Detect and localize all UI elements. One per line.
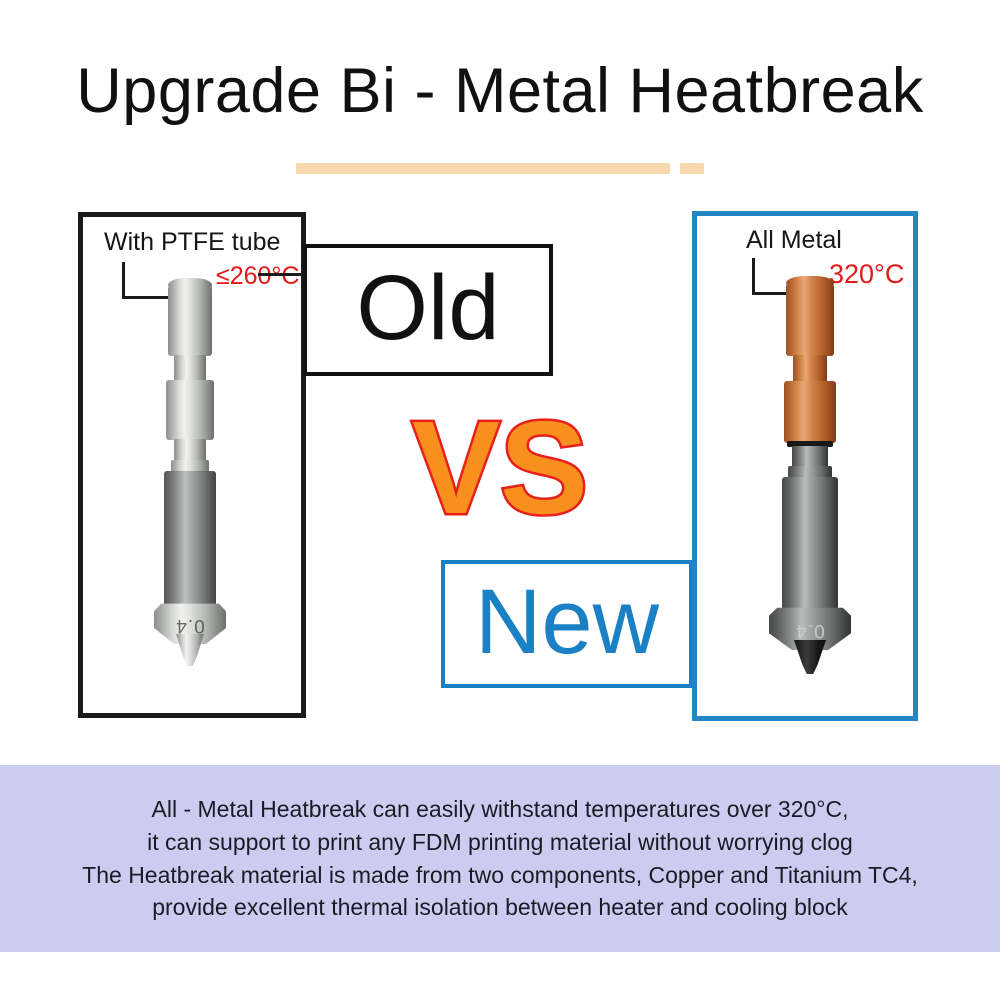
divider-segment-short xyxy=(680,163,704,174)
old-body-cylinder xyxy=(164,471,216,606)
description-line-3: The Heatbreak material is made from two … xyxy=(82,859,918,892)
description-line-2: it can support to print any FDM printing… xyxy=(147,826,853,859)
description-block: All - Metal Heatbreak can easily withsta… xyxy=(0,765,1000,952)
old-callout-label: With PTFE tube xyxy=(104,228,280,257)
old-nozzle-tip xyxy=(176,634,204,666)
divider-segment-long xyxy=(296,163,670,174)
old-badge-box: Old xyxy=(303,244,553,376)
new-nozzle-size-label: 0.4 xyxy=(769,619,851,641)
old-neck-upper xyxy=(174,355,206,381)
versus-label: VS xyxy=(400,402,600,534)
infographic-page: Upgrade Bi - Metal Heatbreak With PTFE t… xyxy=(0,0,1000,1000)
new-top-cap xyxy=(786,276,834,290)
new-body-cylinder xyxy=(782,477,838,610)
new-top-cylinder xyxy=(786,282,834,356)
new-callout-label: All Metal xyxy=(746,226,842,255)
new-nozzle-tip xyxy=(794,640,826,674)
description-line-1: All - Metal Heatbreak can easily withsta… xyxy=(152,793,849,826)
old-top-cap xyxy=(168,278,212,292)
new-mid-band xyxy=(784,381,836,443)
old-top-cylinder xyxy=(168,284,212,356)
page-title: Upgrade Bi - Metal Heatbreak xyxy=(0,58,1000,124)
old-heatbreak-part: 0.4 xyxy=(152,276,230,666)
new-heatbreak-part: 0.4 xyxy=(768,274,852,672)
old-mid-band xyxy=(166,380,214,440)
new-badge-box: New xyxy=(441,560,693,688)
old-neck-lower xyxy=(174,439,206,461)
old-box-connector-line xyxy=(258,273,306,277)
description-line-4: provide excellent thermal isolation betw… xyxy=(152,891,848,924)
new-neck-upper xyxy=(793,355,827,383)
old-badge-label: Old xyxy=(307,262,549,354)
new-neck-lower xyxy=(792,446,828,468)
new-badge-label: New xyxy=(445,576,689,668)
old-nozzle-size-label: 0.4 xyxy=(154,614,226,636)
